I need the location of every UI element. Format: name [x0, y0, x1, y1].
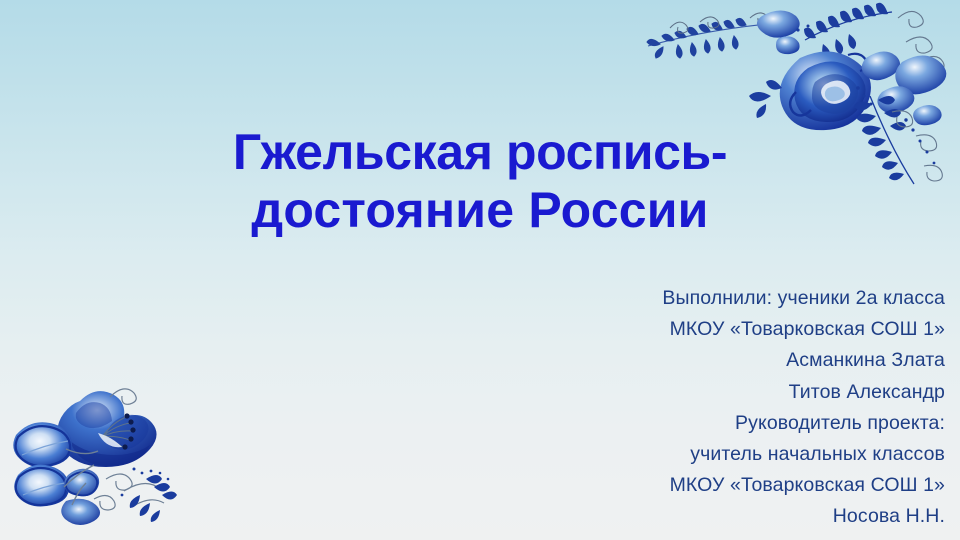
flower-leaf-lower-left — [14, 465, 69, 507]
corner-buds-right — [862, 51, 947, 125]
flower-frond-right — [130, 475, 177, 522]
credits-line: Титов Александр — [385, 377, 945, 408]
corner-leaf-left — [749, 80, 782, 118]
flower-bloom — [57, 391, 156, 467]
gzhel-flower-ornament — [6, 383, 191, 528]
credits-line: Носова Н.Н. — [385, 501, 945, 532]
corner-bud-top — [757, 11, 800, 55]
corner-rose — [780, 51, 871, 130]
credits-block: Выполнили: ученики 2а класса МКОУ «Товар… — [385, 283, 945, 533]
title-line-2: достояние России — [0, 185, 960, 235]
title-line-1: Гжельская роспись- — [0, 127, 960, 177]
corner-fern-top — [804, 3, 892, 59]
corner-tendrils-top — [898, 11, 944, 71]
credits-line: Руководитель проекта: — [385, 408, 945, 439]
credits-line: МКОУ «Товарковская СОШ 1» — [385, 314, 945, 345]
credits-line: учитель начальных классов — [385, 439, 945, 470]
flower-leaf-small — [64, 469, 99, 497]
flower-stamens — [102, 417, 132, 448]
flower-dots — [121, 468, 170, 497]
flower-stems — [64, 449, 98, 505]
corner-branch-left — [647, 13, 788, 58]
credits-line: Выполнили: ученики 2а класса — [385, 283, 945, 314]
presentation-slide: Гжельская роспись- достояние России Выпо… — [0, 0, 960, 540]
credits-line: МКОУ «Товарковская СОШ 1» — [385, 470, 945, 501]
flower-bottom-petal — [61, 499, 100, 525]
flower-tendrils — [94, 389, 164, 510]
flower-stamen-tips — [122, 413, 135, 449]
page-title: Гжельская роспись- достояние России — [0, 127, 960, 235]
credits-line: Асманкина Злата — [385, 345, 945, 376]
flower-leaf-upper-left — [13, 422, 72, 467]
